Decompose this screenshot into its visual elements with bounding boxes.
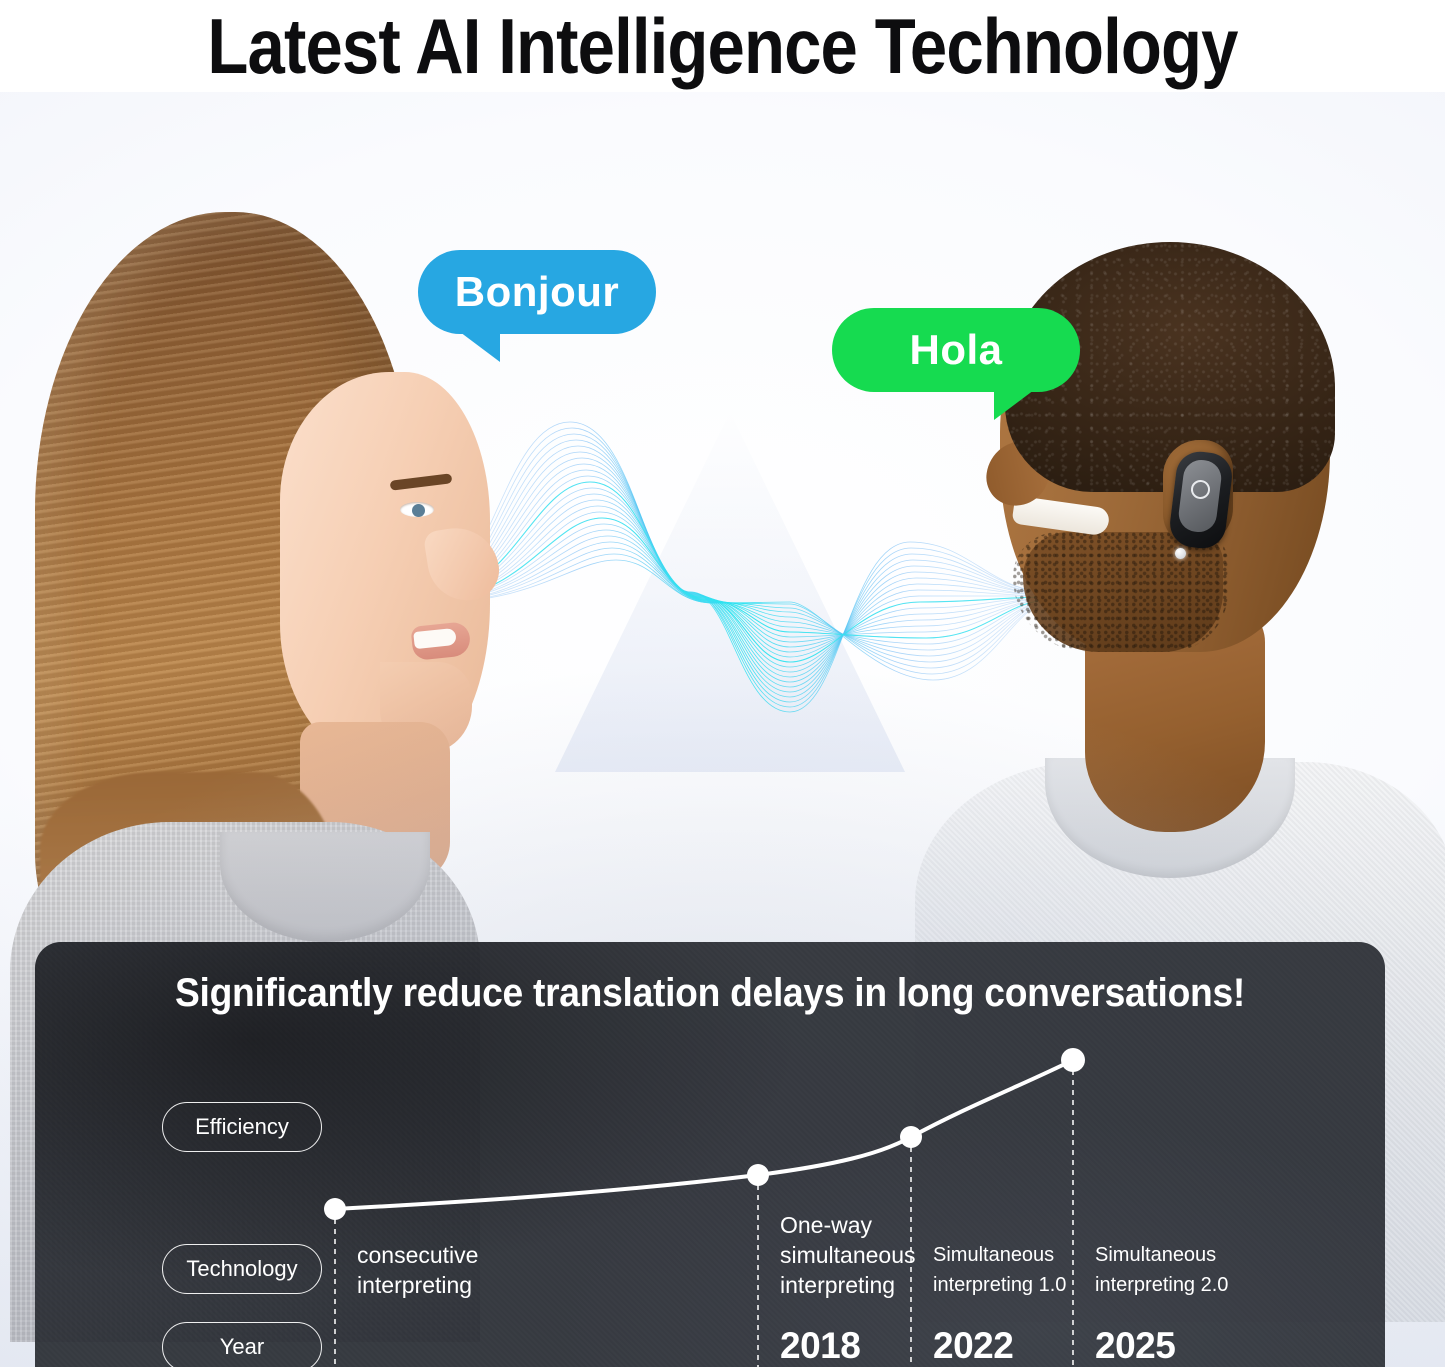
page-title: Latest AI Intelligence Technology bbox=[101, 0, 1344, 94]
data-point-3 bbox=[900, 1126, 922, 1148]
hero-photo: Bonjour Hola Significantly reduce transl… bbox=[0, 92, 1445, 1367]
year-label-2022: 2022 bbox=[933, 1324, 1013, 1367]
man-earring bbox=[1175, 548, 1186, 559]
data-point-1 bbox=[324, 1198, 346, 1220]
technology-label-2: One-way simultaneous interpreting bbox=[780, 1210, 916, 1300]
efficiency-timeline-chart bbox=[35, 942, 1385, 1367]
info-panel: Significantly reduce translation delays … bbox=[35, 942, 1385, 1367]
year-label-2025: 2025 bbox=[1095, 1324, 1175, 1367]
efficiency-curve bbox=[335, 1060, 1073, 1209]
speech-bubble-hola: Hola bbox=[832, 308, 1080, 392]
speech-bubble-text: Bonjour bbox=[455, 268, 619, 316]
data-point-2 bbox=[747, 1164, 769, 1186]
technology-label-4: Simultaneous interpreting 2.0 bbox=[1095, 1240, 1228, 1300]
woman-iris bbox=[412, 504, 425, 517]
product-marketing-image: Latest AI Intelligence Technology bbox=[0, 0, 1445, 1367]
speech-bubble-bonjour: Bonjour bbox=[418, 250, 656, 334]
speech-bubble-text: Hola bbox=[909, 326, 1002, 374]
technology-label-3: Simultaneous interpreting 1.0 bbox=[933, 1240, 1066, 1300]
data-point-4 bbox=[1061, 1048, 1085, 1072]
man-beard bbox=[1013, 532, 1228, 652]
technology-label-1: consecutive interpreting bbox=[357, 1240, 478, 1300]
year-label-2018: 2018 bbox=[780, 1324, 860, 1367]
